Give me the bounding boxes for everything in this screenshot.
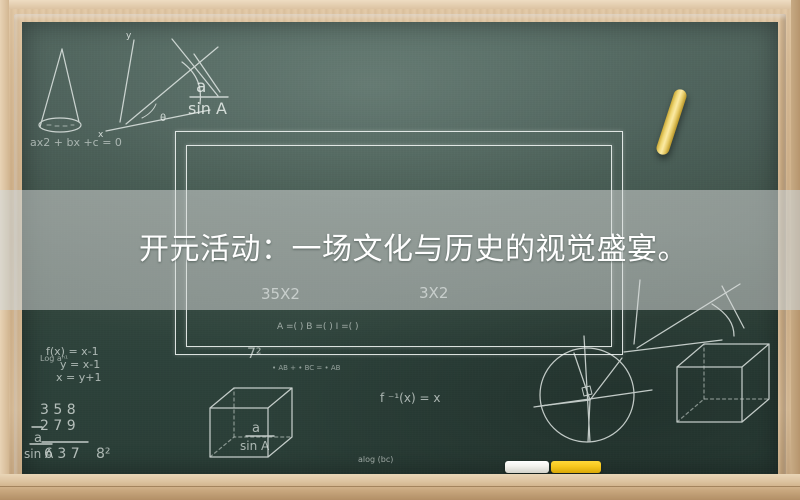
caption-text: 开元活动：一场文化与历史的视觉盛宴。 [139, 235, 688, 265]
ledge-shadow-line [0, 486, 800, 487]
chalkboard-banner: a sin A y x θ ax2 + bx +c = 0 . f(x) = x… [0, 0, 800, 500]
chalk-alog: alog (bc) [358, 455, 393, 464]
chalk-eight-sq: 8² [96, 446, 111, 462]
chalk-sum-2: 2 7 9 [40, 418, 76, 434]
cone-diagram [39, 49, 81, 132]
chalk-stick-white-tray [505, 461, 549, 473]
chalk-log-label: Log aⁿ¹ [40, 354, 68, 363]
chalk-tray-ledge [0, 474, 800, 500]
chalk-sum-1: 3 5 8 [40, 402, 76, 418]
chalk-sum-3: 6 3 7 [44, 446, 80, 462]
frame-top-edge [0, 0, 800, 9]
chalk-sina3: sin A [240, 439, 270, 453]
cube-diagram-right [677, 344, 769, 422]
chalk-vector-identity: • AB + • BC = • AB [272, 364, 341, 372]
chalk-stick-yellow-tray [551, 461, 601, 473]
chalk-angle-theta: θ [160, 113, 166, 124]
chalk-axis-y-label: y [126, 31, 132, 41]
chalk-x-eq: x = y+1 [56, 371, 101, 384]
chalk-a3: a [252, 421, 260, 436]
caption-band: 开元活动：一场文化与历史的视觉盛宴。 [0, 190, 800, 310]
chalk-quadratic: ax2 + bx +c = 0 [30, 136, 122, 149]
chalk-sin-a-denominator: sin A [188, 99, 227, 118]
chalk-inverse-fn: f ⁻¹(x) = x [380, 391, 440, 405]
chalk-a-numerator: a [196, 77, 206, 97]
